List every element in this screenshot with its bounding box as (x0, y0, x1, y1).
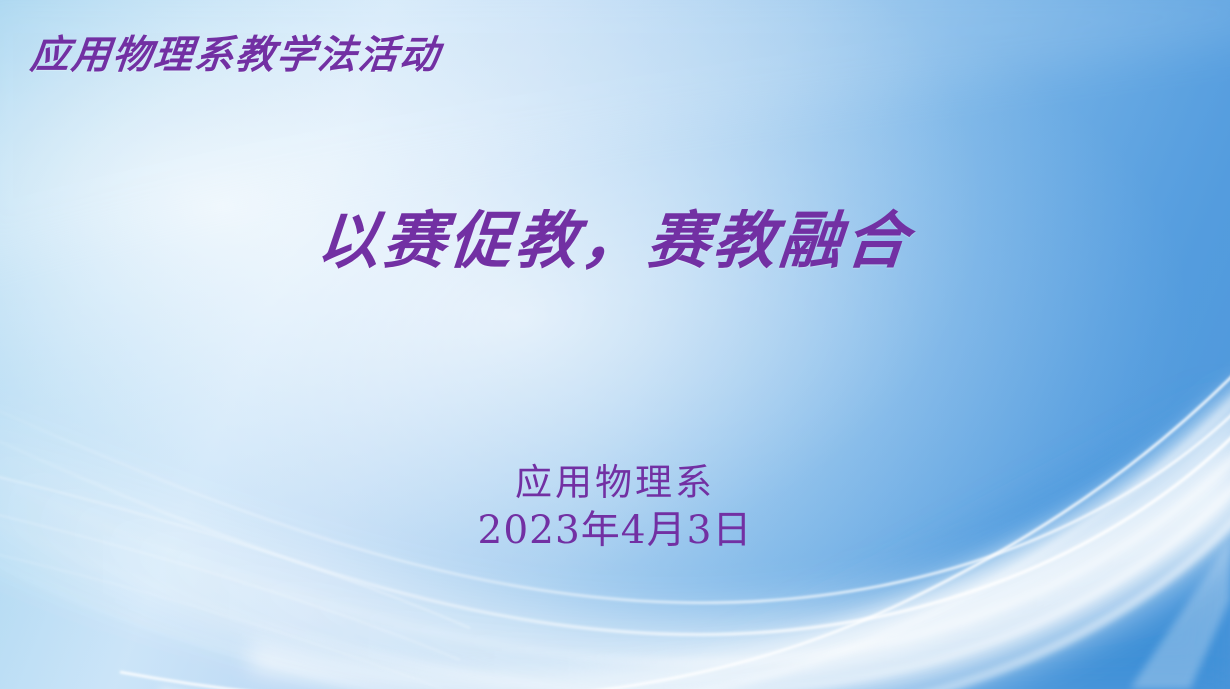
bg-glow-upper-left (0, 0, 1230, 689)
background-artwork (0, 0, 1230, 689)
slide-header-label: 应用物理系教学法活动 (28, 24, 444, 80)
bg-glow-center (0, 0, 1230, 689)
slide-main-title: 以赛促教，赛教融合 (0, 190, 1230, 280)
bg-right-wash (0, 0, 1230, 689)
slide-department-label: 应用物理系 (0, 452, 1230, 506)
slide-main-title-text: 以赛促教，赛教融合 (314, 190, 916, 280)
corner-streak (1130, 540, 1230, 689)
slide-background (0, 0, 1230, 689)
slide-date-label: 2023年4月3日 (0, 499, 1230, 555)
slide-canvas: 应用物理系教学法活动 以赛促教，赛教融合 应用物理系 2023年4月3日 (0, 0, 1230, 689)
ribbon-arc-left-3 (0, 548, 450, 689)
